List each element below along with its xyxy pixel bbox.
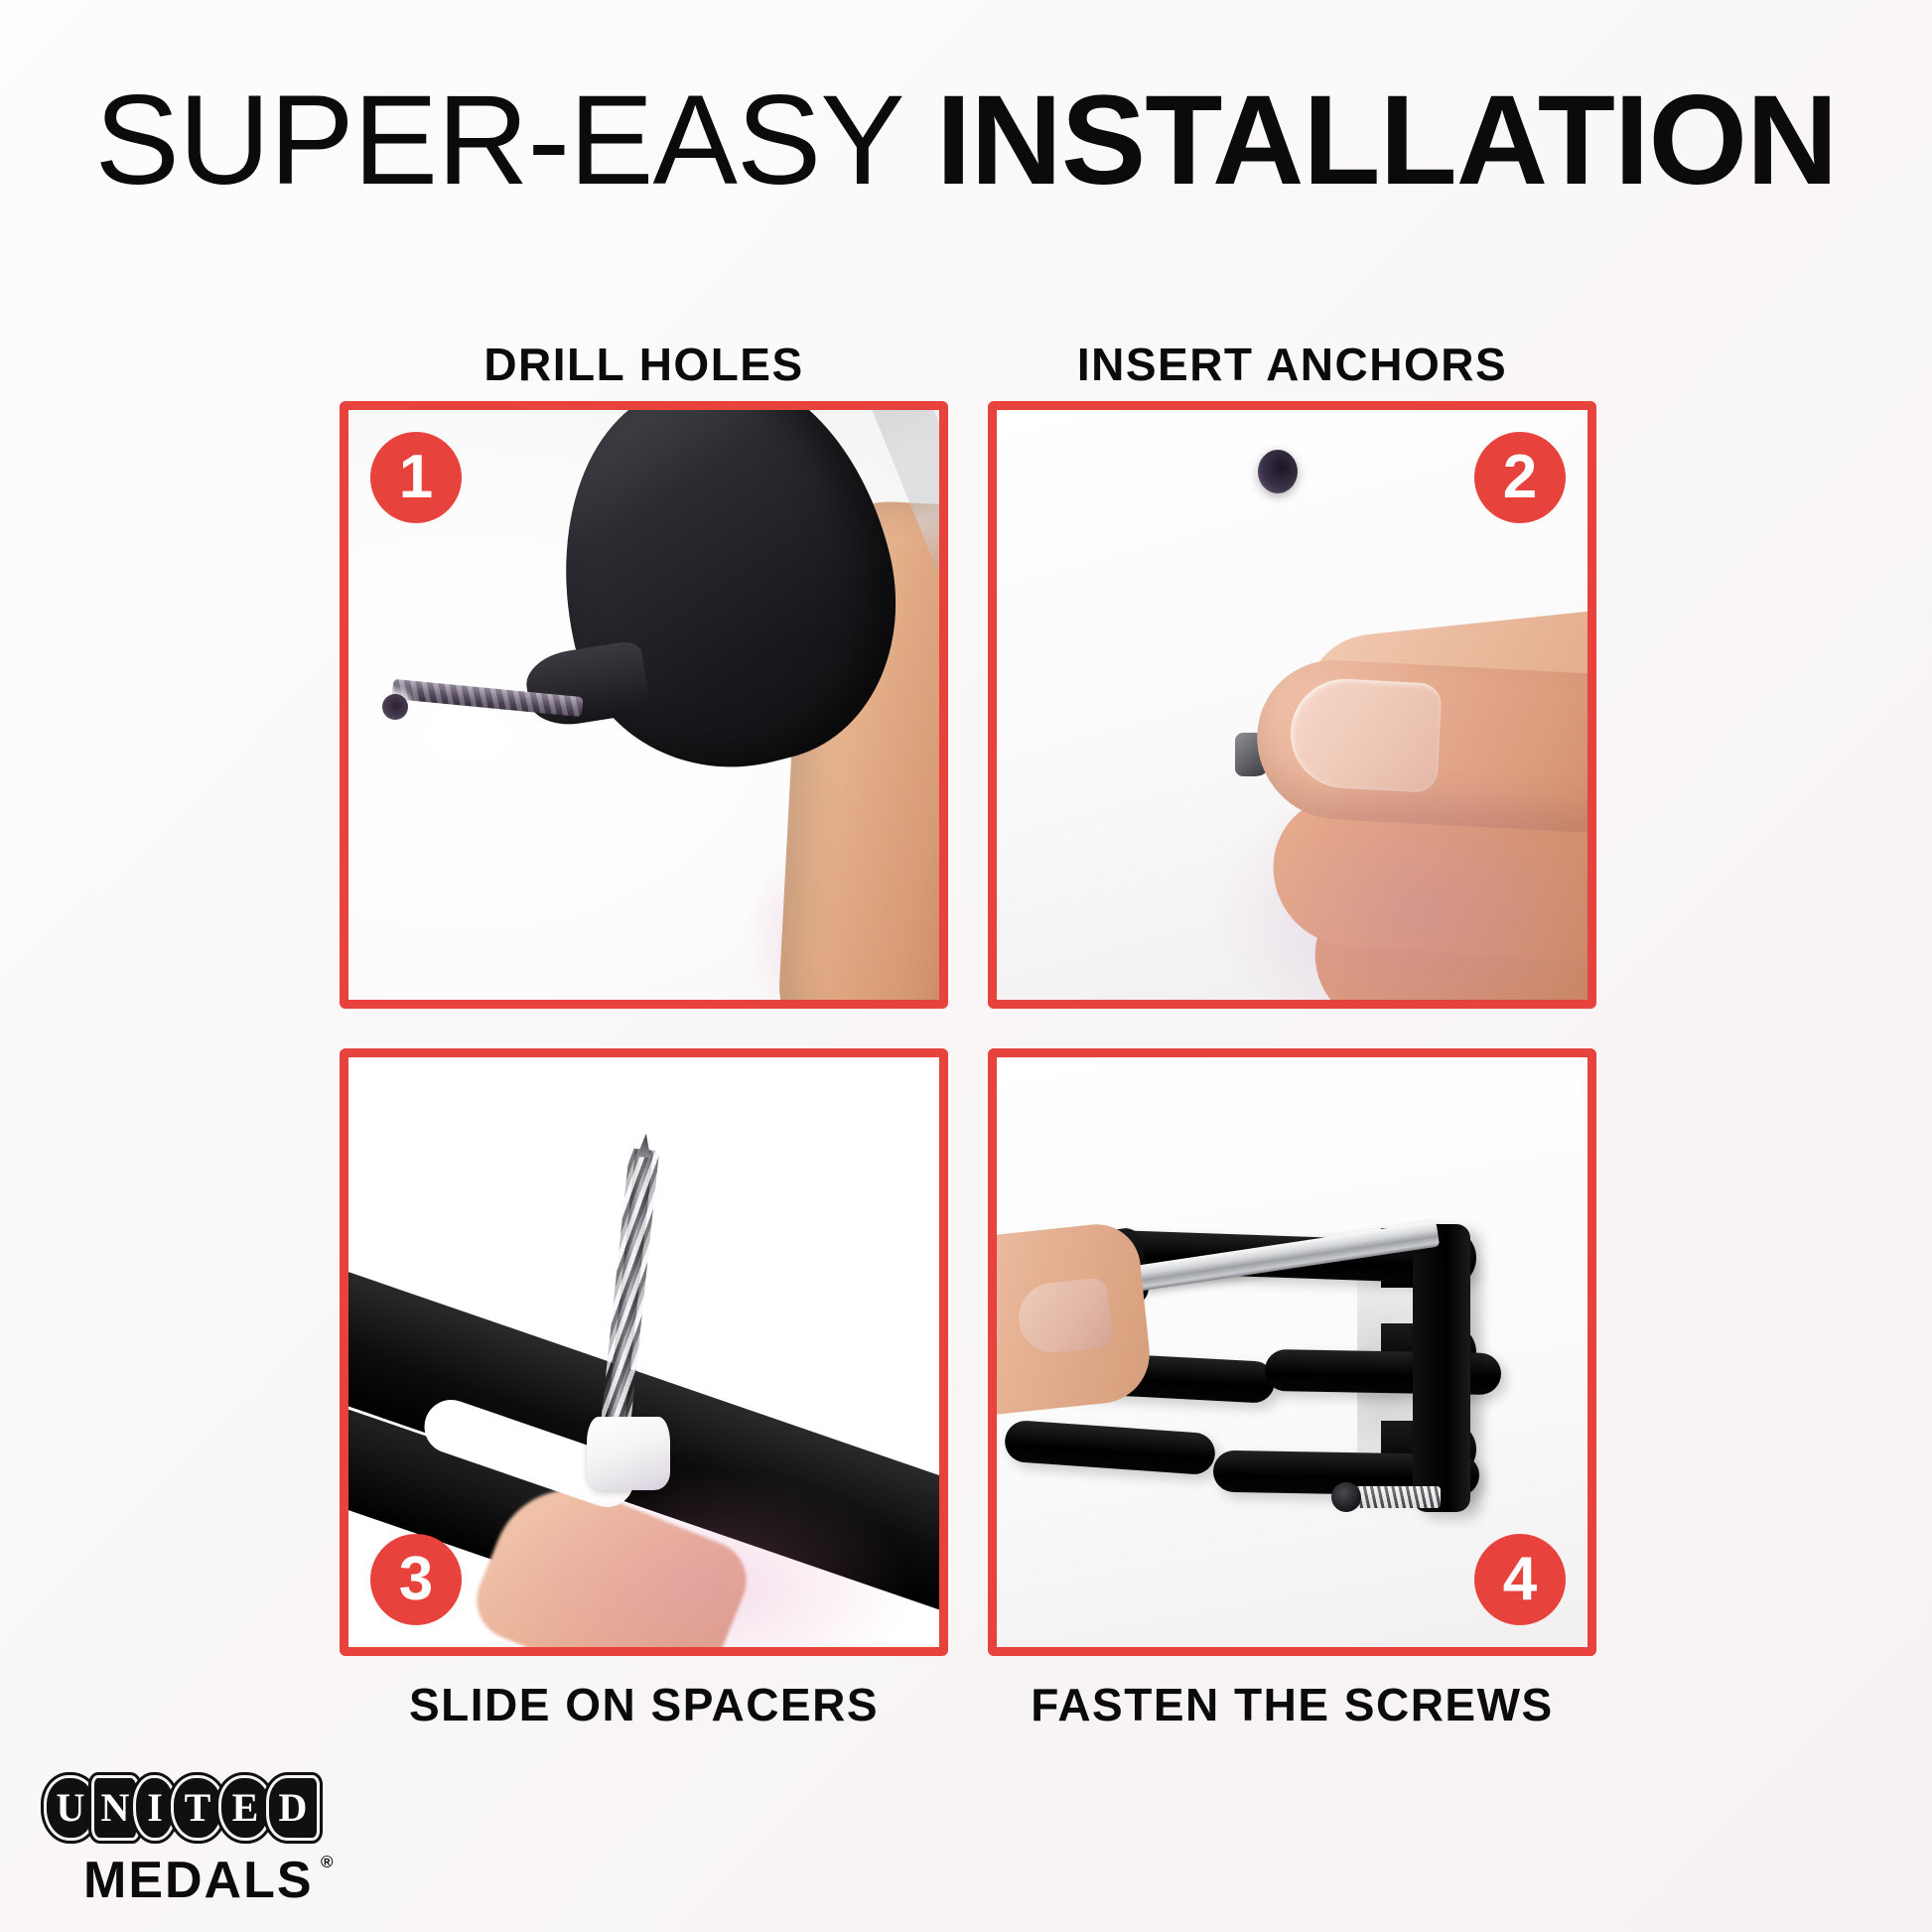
logo-letter-badge-n: N (91, 1775, 139, 1841)
logo-medals-text: MEDALS (83, 1852, 314, 1909)
step-label-insert-anchors: INSERT ANCHORS (988, 338, 1596, 391)
step-panel-4: 4 (988, 1048, 1596, 1656)
step-number-badge-4: 4 (1474, 1534, 1566, 1625)
step-panel-2: 2 (988, 401, 1596, 1009)
registered-trademark-icon: ® (321, 1853, 336, 1872)
installation-steps-grid: 1 2 (340, 401, 1596, 1656)
screw-head-shape (1331, 1482, 1361, 1512)
logo-letter-d: D (279, 1788, 308, 1828)
step-panel-3: 3 (340, 1048, 948, 1656)
step-label-drill-holes: DRILL HOLES (340, 338, 948, 391)
logo-letter-badge-u: U (44, 1775, 97, 1841)
drilled-hole-shape (1258, 450, 1298, 493)
step-label-slide-on-spacers: SLIDE ON SPACERS (340, 1678, 948, 1731)
logo-letter-badge-t: T (171, 1775, 224, 1841)
logo-letter-n: N (101, 1788, 130, 1828)
logo-letter-i: I (147, 1788, 163, 1828)
logo-letter-t: T (185, 1788, 211, 1828)
photo-color-cast (497, 1468, 914, 1647)
step-number-badge-3: 3 (370, 1534, 462, 1625)
page-title: SUPER-EASY INSTALLATION (0, 77, 1932, 205)
title-bold-part: INSTALLATION (936, 69, 1838, 211)
step-number-badge-1: 1 (370, 432, 462, 523)
step-panel-1: 1 (340, 401, 948, 1009)
drilled-hole-shape (382, 694, 408, 720)
logo-letter-badge-d: D (266, 1775, 320, 1841)
step-number-badge-2: 2 (1474, 432, 1566, 523)
logo-letter-u: U (57, 1788, 85, 1828)
title-light-part: SUPER-EASY (95, 69, 902, 211)
logo-letter-badge-e: E (218, 1775, 272, 1841)
photo-color-cast (1210, 761, 1587, 1000)
brand-logo: U N I T E D MEDALS® (36, 1769, 314, 1910)
hanger-spine-shape (1413, 1224, 1470, 1512)
logo-letter-e: E (232, 1788, 259, 1828)
logo-united-wordmark: U N I T E D (44, 1769, 314, 1847)
screw-shape (1353, 1486, 1441, 1508)
logo-medals-wordmark: MEDALS® (83, 1851, 314, 1910)
step-label-fasten-the-screws: FASTEN THE SCREWS (988, 1678, 1596, 1731)
